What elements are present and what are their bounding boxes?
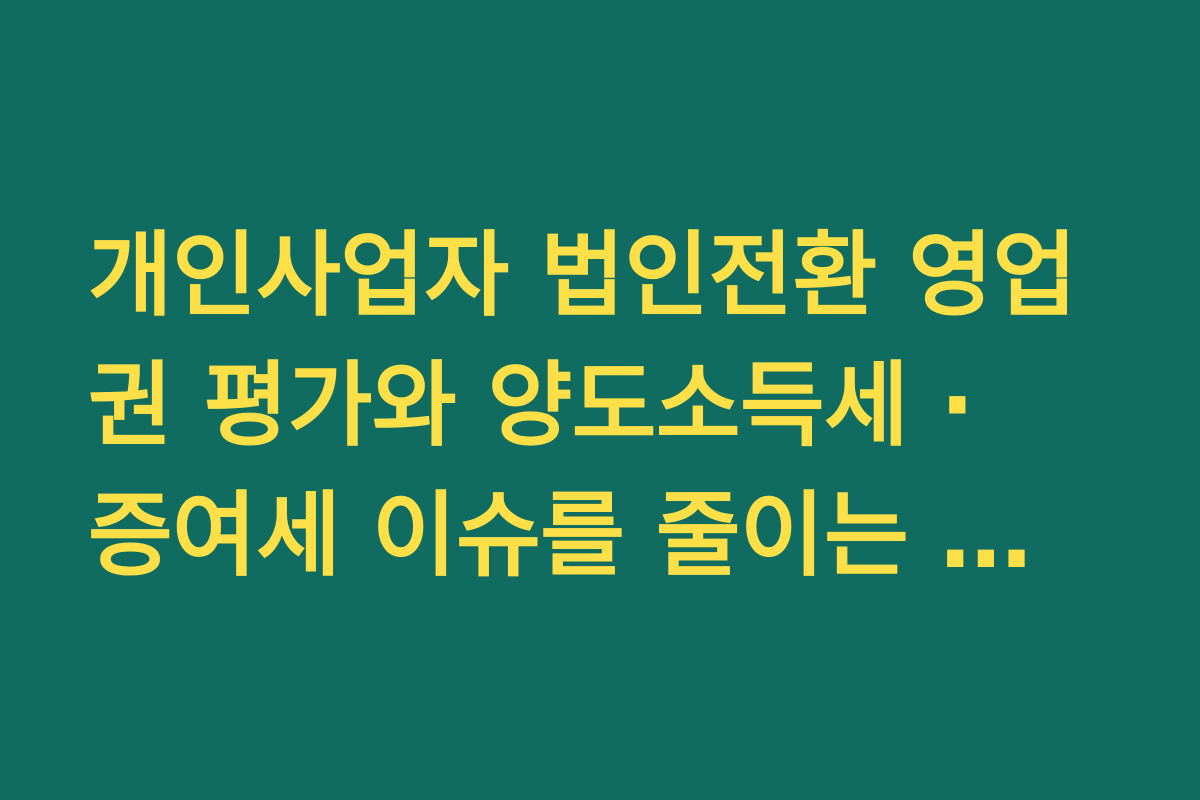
headline-block: 개인사업자 법인전환 영업 권 평가와 양도소득세 · 증여세 이슈를 줄이는 … [0,211,1200,601]
thumbnail-card: 개인사업자 법인전환 영업 권 평가와 양도소득세 · 증여세 이슈를 줄이는 … [0,0,1200,800]
headline-line-3: 증여세 이슈를 줄이는 … [88,471,1136,601]
headline-line-1: 개인사업자 법인전환 영업 [88,211,1136,341]
headline-line-2: 권 평가와 양도소득세 · [88,341,1136,471]
